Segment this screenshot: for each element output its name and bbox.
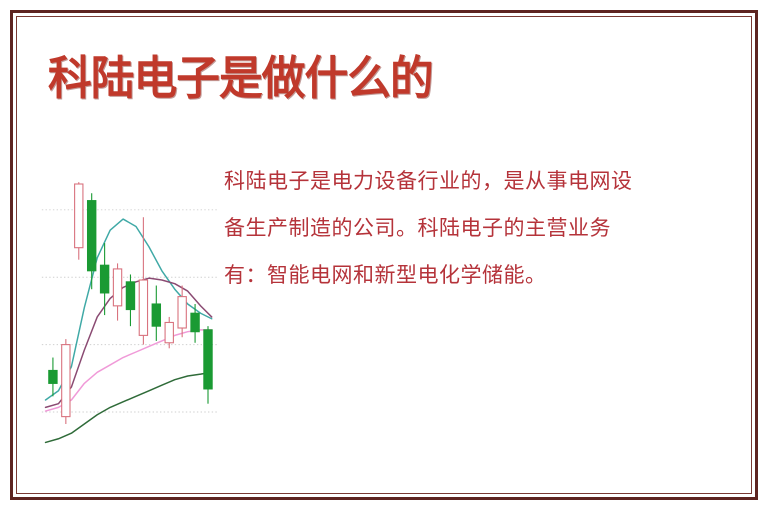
candle-body (126, 282, 134, 310)
candle (100, 243, 108, 315)
candle (88, 193, 96, 289)
candle-body (191, 313, 199, 331)
candle-body (49, 370, 57, 383)
candle (75, 182, 83, 260)
candle (49, 358, 57, 397)
candle-body (113, 269, 121, 306)
candle (139, 217, 147, 344)
candle (152, 286, 160, 341)
candle-body (75, 184, 83, 248)
candle (165, 317, 173, 348)
candle (113, 263, 121, 320)
article-card: 科陆电子是做什么的 科陆电子是电力设备行业的，是从事电网设备生产制造的公司。科陆… (0, 0, 768, 510)
candle-body (62, 345, 70, 417)
candle-body (178, 297, 186, 328)
candle-body (88, 201, 96, 271)
candle (62, 339, 70, 424)
candle-body (152, 304, 160, 326)
stock-candlestick-chart (40, 160, 220, 460)
candle (191, 304, 199, 343)
candle-body (204, 330, 212, 389)
candle-body (139, 280, 147, 335)
candlestick-svg (40, 160, 220, 460)
candle (126, 274, 134, 326)
candle (204, 326, 212, 404)
candle-body (100, 265, 108, 293)
article-paragraph: 科陆电子是电力设备行业的，是从事电网设备生产制造的公司。科陆电子的主营业务有：智… (224, 158, 644, 299)
page-title: 科陆电子是做什么的 (48, 50, 433, 106)
candle-body (165, 322, 173, 342)
